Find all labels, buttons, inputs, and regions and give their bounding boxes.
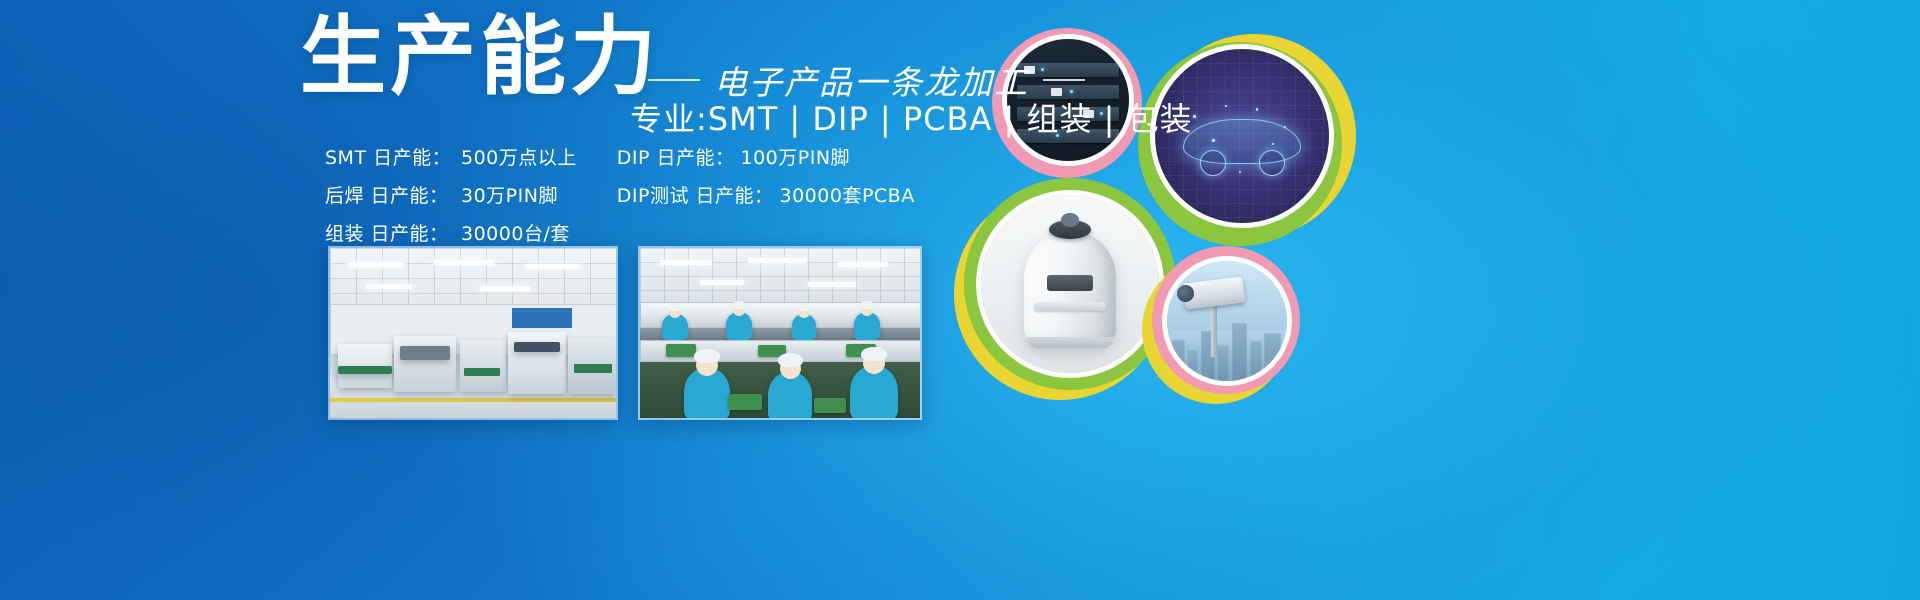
machine-window [400,346,450,360]
spec-value: 100万PIN脚 [735,143,851,170]
component-tray [814,398,846,413]
worker [726,312,752,340]
spec-label: SMT 日产能： [325,143,455,170]
air-fryer-knob [1061,213,1079,227]
building [1250,341,1262,381]
worker [850,366,898,420]
building [1217,345,1229,381]
worker [768,372,812,420]
specs-right-column: DIP 日产能：100万PIN脚 DIP测试 日产能：30000套PCBA [617,143,915,246]
building [1172,340,1185,381]
wall-sign [512,308,572,328]
floor-safety-line [330,398,616,402]
banner-services-line: 专业:SMT | DIP | PCBA | 组装 | 包装 [630,94,1193,140]
banner-heading-group: 生产能力 电子产品一条龙加工 专业:SMT | DIP | PCBA | 组装 … [300,18,1120,128]
decorative-dash-right [1043,79,1085,81]
component-tray [728,394,762,410]
smt-machine [460,340,506,392]
worker-cap [860,301,874,309]
spec-value: 30000台/套 [455,219,570,246]
production-capacity-banner: 生产能力 电子产品一条龙加工 专业:SMT | DIP | PCBA | 组装 … [0,0,1920,600]
worker-cap [668,303,682,311]
building [1264,333,1281,381]
spec-row: 组装 日产能：30000台/套 [325,219,577,246]
building [1187,350,1198,381]
ceiling-lamp [348,262,404,267]
ceiling-lamp [808,282,856,287]
ceiling-lamp [480,286,530,291]
smt-workshop-photo [328,246,618,420]
network-node [1193,115,1196,118]
ceiling-grid [330,248,616,310]
worker-cap [778,353,803,367]
building [1232,323,1248,381]
air-fryer-control-panel [1047,275,1093,291]
worker-cap [861,347,887,361]
ceiling-lamp [700,280,744,285]
machine-window [514,342,560,352]
spec-value: 30万PIN脚 [455,181,558,208]
ceiling-lamp [748,258,806,263]
decorative-dash-left [648,79,700,81]
machine-panel [338,366,392,374]
spec-row: DIP测试 日产能：30000套PCBA [617,181,915,208]
assembly-line-photo [638,246,922,420]
air-fryer-handle [1034,302,1105,311]
spec-label: 组装 日产能： [325,219,455,246]
spec-row: DIP 日产能：100万PIN脚 [617,143,915,170]
machine-green-panel [574,364,612,373]
capacity-specs: SMT 日产能：500万点以上 后焊 日产能：30万PIN脚 组装 日产能：30… [325,143,915,246]
component-tray [666,344,696,357]
spec-label: 后焊 日产能： [325,181,455,208]
network-node [1212,139,1215,142]
worker-cap [732,301,746,309]
spec-value: 30000套PCBA [774,181,915,208]
air-fryer-base [1027,337,1112,348]
worker-cap [694,349,720,363]
page-title: 生产能力 [300,14,660,100]
smt-machine [394,336,456,392]
worker-cap [797,303,811,311]
spec-row: 后焊 日产能：30万PIN脚 [325,181,577,208]
spec-row: SMT 日产能：500万点以上 [325,143,577,170]
ceiling-lamp [660,260,712,265]
machine-green-panel [464,368,500,376]
air-fryer-circle [976,190,1164,378]
ceiling-lamp [434,260,494,265]
ceiling-grid [640,248,920,302]
spec-label: DIP测试 日产能： [617,181,774,208]
ceiling-lamp [838,262,888,267]
ceiling-lamp [366,284,412,289]
camera-pole [1211,302,1217,357]
spec-label: DIP 日产能： [617,143,735,170]
security-camera-circle [1162,256,1292,386]
worker [854,312,880,340]
ceiling-lamp [526,264,580,269]
specs-left-column: SMT 日产能：500万点以上 后焊 日产能：30万PIN脚 组装 日产能：30… [325,143,577,246]
spec-value: 500万点以上 [455,143,577,170]
